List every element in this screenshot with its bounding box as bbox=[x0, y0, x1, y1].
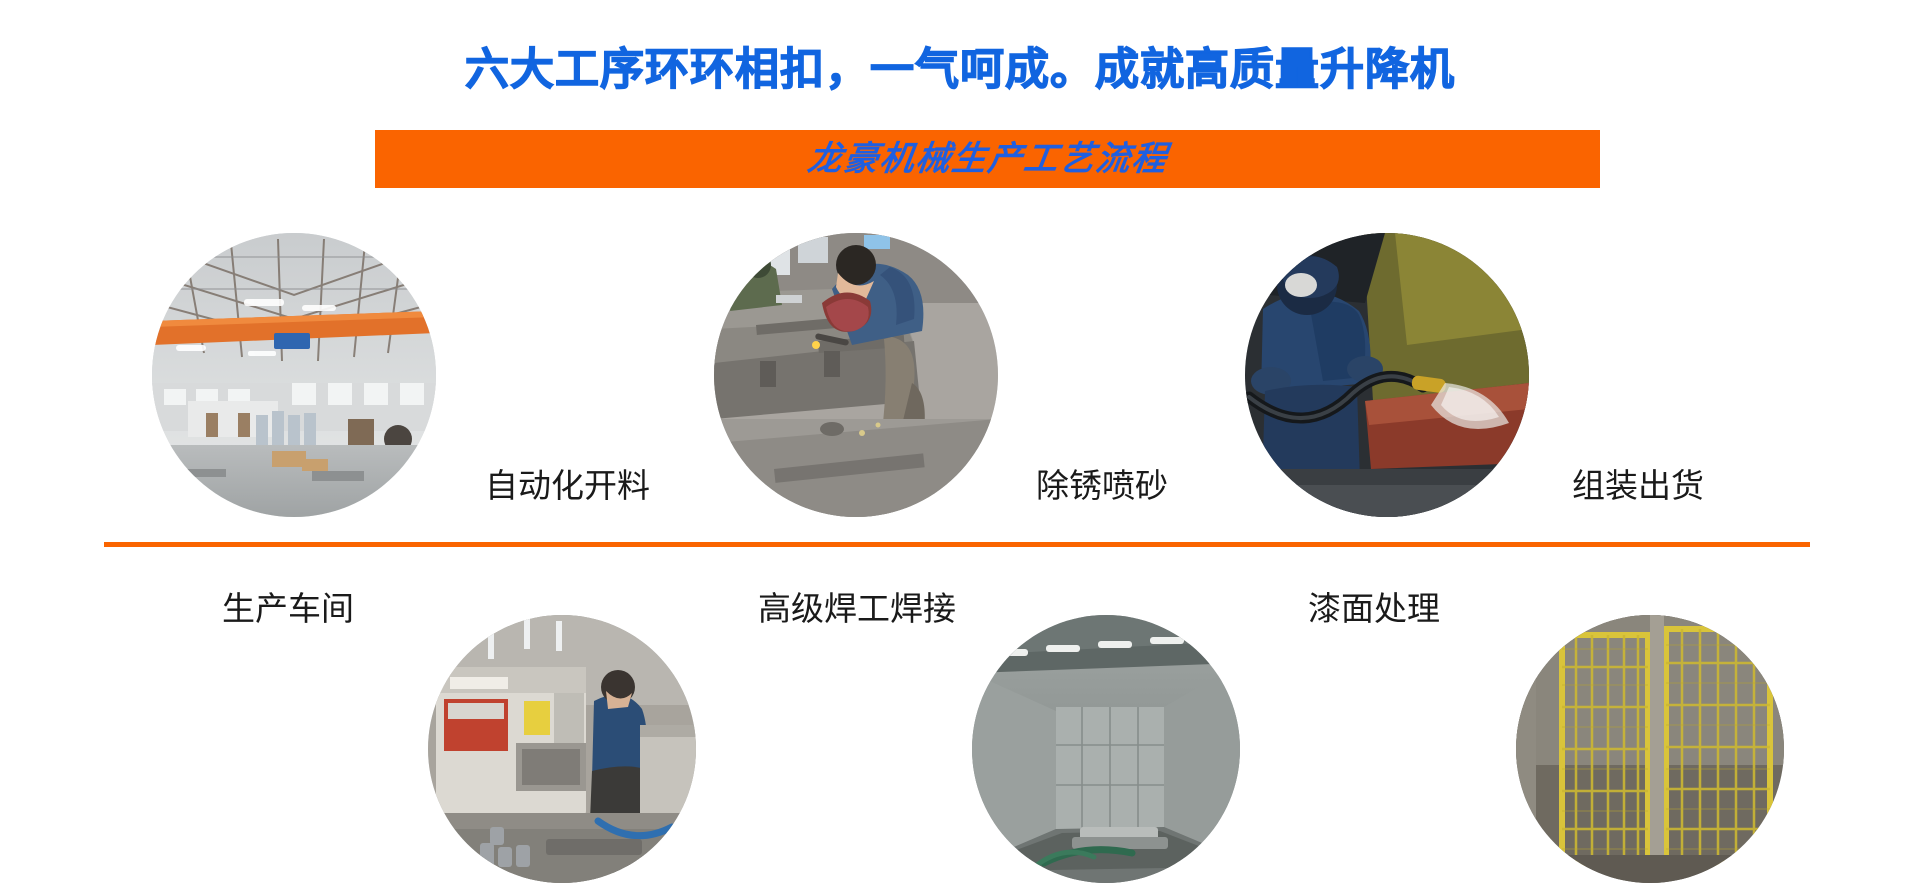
paint-booth-photo bbox=[972, 615, 1240, 883]
page-title: 六大工序环环相扣，一气呵成。成就高质量升降机 bbox=[0, 44, 1920, 96]
promo-page: 六大工序环环相扣，一气呵成。成就高质量升降机 龙豪机械生产工艺流程 bbox=[0, 0, 1920, 884]
auto-cutting-photo bbox=[428, 615, 696, 883]
step-label-assembly: 组装出货 bbox=[1572, 466, 1704, 506]
step-label-auto-cutting: 自动化开料 bbox=[485, 466, 650, 506]
section-divider bbox=[104, 542, 1810, 547]
senior-welding-photo bbox=[714, 233, 998, 517]
sandblasting-photo bbox=[1245, 233, 1529, 517]
assembly-shipping-photo bbox=[1516, 615, 1784, 883]
step-label-welding: 高级焊工焊接 bbox=[758, 589, 956, 629]
factory-workshop-photo bbox=[152, 233, 436, 517]
step-label-workshop: 生产车间 bbox=[222, 589, 354, 629]
step-label-sandblasting: 除锈喷砂 bbox=[1036, 466, 1168, 506]
subtitle-banner-label: 龙豪机械生产工艺流程 bbox=[805, 139, 1171, 179]
subtitle-banner: 龙豪机械生产工艺流程 bbox=[375, 130, 1600, 188]
step-label-painting: 漆面处理 bbox=[1308, 589, 1440, 629]
